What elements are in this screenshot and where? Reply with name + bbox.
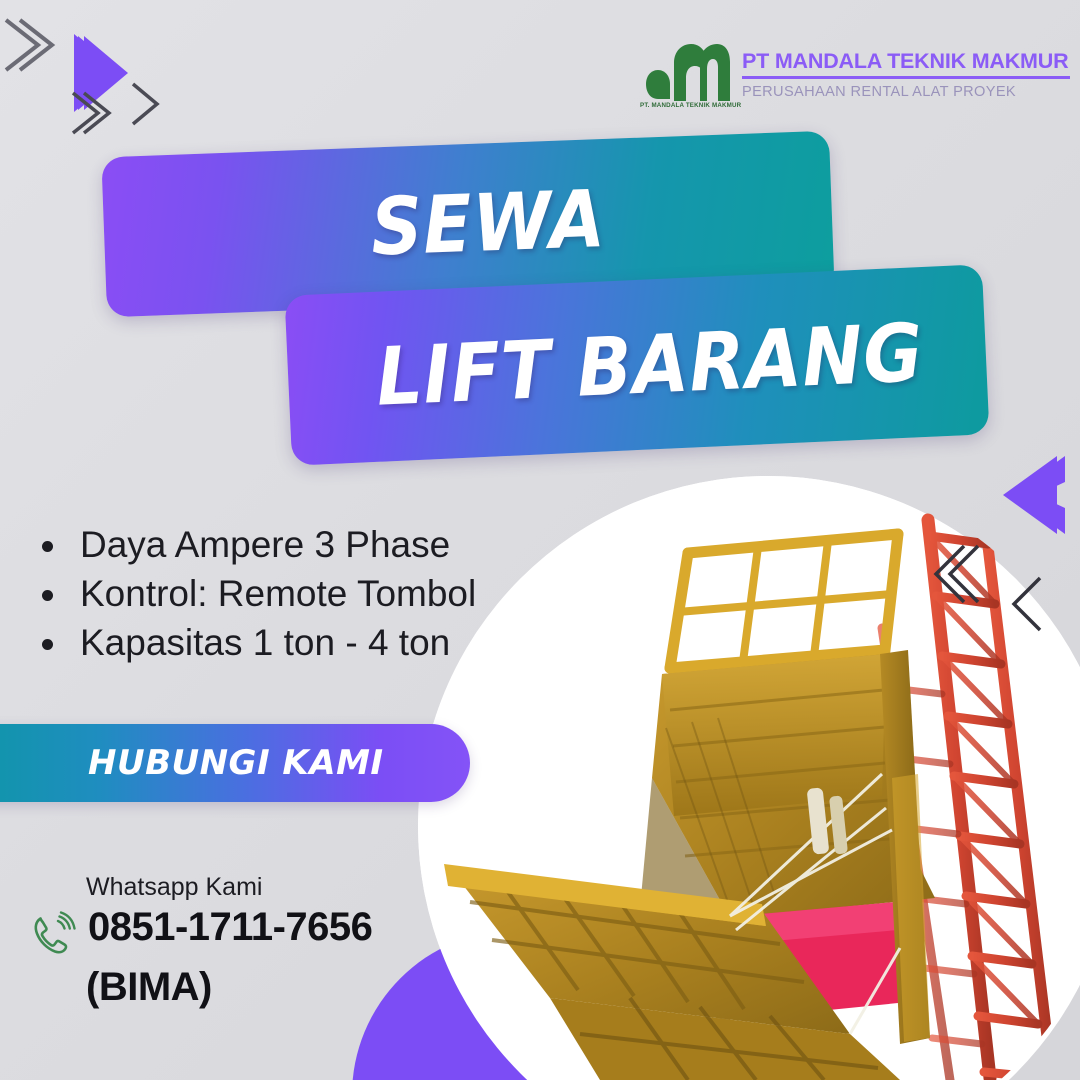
chevron-right-outline-icon-3 — [128, 78, 174, 130]
phone-number[interactable]: 0851-1711-7656 — [88, 905, 372, 950]
title-line-2: LIFT BARANG — [375, 306, 926, 424]
chevron-right-outline-icon-1 — [0, 14, 60, 76]
chevron-right-outline-icon-2 — [68, 88, 116, 138]
feature-list: Daya Ampere 3 Phase Kontrol: Remote Tomb… — [30, 520, 630, 668]
brand-text-block: PT MANDALA TEKNIK MAKMUR PERUSAHAAN RENT… — [742, 48, 1070, 101]
title-banner-secondary: LIFT BARANG — [285, 264, 990, 465]
brand-header: PT. MANDALA TEKNIK MAKMUR PT MANDALA TEK… — [640, 32, 1070, 116]
feature-item-1: Daya Ampere 3 Phase — [30, 520, 630, 569]
chevron-left-outline-icon-2 — [986, 572, 1048, 636]
chevron-left-icon-solid — [985, 452, 1071, 538]
phone-row: 0851-1711-7656 — [28, 905, 548, 959]
phone-call-icon — [28, 911, 76, 959]
title-line-1: SEWA — [369, 173, 607, 274]
letter-m-logo-icon: PT. MANDALA TEKNIK MAKMUR — [640, 37, 732, 111]
chevron-left-outline-icon-1 — [920, 540, 986, 608]
poster-canvas: SEWA LIFT BARANG PT. MANDALA TEKNIK MAKM… — [0, 0, 1080, 1080]
contact-us-button[interactable]: HUBUNGI KAMI — [0, 724, 470, 802]
whatsapp-label: Whatsapp Kami — [86, 872, 548, 903]
contact-us-button-label: HUBUNGI KAMI — [88, 743, 384, 783]
contact-block: Whatsapp Kami 0851-1711-7656 (BIMA) — [28, 872, 548, 1010]
company-tagline: PERUSAHAAN RENTAL ALAT PROYEK — [742, 84, 1070, 100]
feature-item-3: Kapasitas 1 ton - 4 ton — [30, 618, 630, 667]
contact-person-name: (BIMA) — [86, 965, 548, 1010]
header-divider — [742, 76, 1070, 79]
company-name: PT MANDALA TEKNIK MAKMUR — [742, 50, 1070, 73]
logo-caption-text: PT. MANDALA TEKNIK MAKMUR — [640, 102, 732, 109]
feature-item-2: Kontrol: Remote Tombol — [30, 569, 630, 618]
